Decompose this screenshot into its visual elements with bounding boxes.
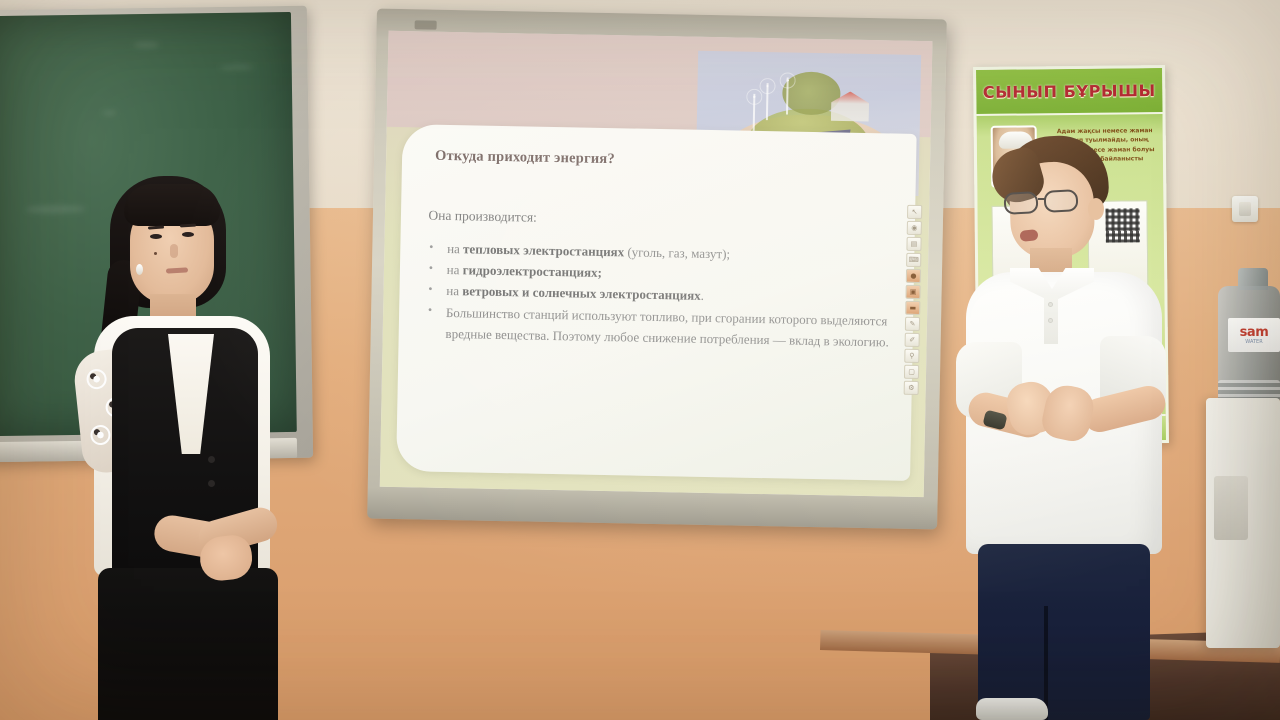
- student-presenter: [948, 136, 1188, 720]
- page-tool-icon[interactable]: ▤: [906, 237, 921, 251]
- bullet-bold: тепловых электростанциях: [463, 242, 624, 260]
- wind-turbine-icon: [786, 78, 789, 115]
- slide-title: Откуда приходит энергия?: [435, 148, 615, 168]
- keyboard-tool-icon[interactable]: ⌨: [906, 253, 921, 267]
- color-red-tool-icon[interactable]: ●: [906, 269, 921, 283]
- whiteboard-toolbar[interactable]: ↖ ◉ ▤ ⌨ ● ▣ ▬ ✎ ✐ ⚲ ▢ ⚙: [904, 205, 925, 395]
- pointer-tool-icon[interactable]: ↖: [907, 205, 922, 219]
- presentation-slide: Откуда приходит энергия? Она производитс…: [380, 31, 933, 497]
- teacher-earring: [136, 264, 143, 275]
- student-trousers: [978, 544, 1150, 720]
- cooler-tap-panel[interactable]: [1214, 476, 1248, 540]
- poster-header: СЫНЫП БҰРЫШЫ: [976, 68, 1162, 116]
- bullet-bold: гидроэлектростанциях;: [463, 262, 602, 280]
- shape-tool-icon[interactable]: ▬: [905, 301, 920, 315]
- water-bottle-label: sam WATER: [1228, 318, 1280, 352]
- link-tool-icon[interactable]: ⚲: [904, 349, 919, 363]
- pen-tool-icon[interactable]: ✎: [905, 317, 920, 331]
- classroom-scene: Откуда приходит энергия? Она производитс…: [0, 0, 1280, 720]
- bullet-bold: ветровых и солнечных электростанциях: [462, 283, 701, 303]
- whiteboard-logo-badge: [415, 20, 437, 29]
- slide-bullet-list: на тепловых электростанциях (уголь, газ,…: [423, 239, 904, 354]
- student-shoe: [976, 698, 1048, 720]
- interactive-whiteboard[interactable]: Откуда приходит энергия? Она производитс…: [367, 9, 947, 530]
- wind-turbine-icon: [766, 83, 769, 120]
- water-sub-text: WATER: [1245, 339, 1262, 345]
- bullet-lead: на: [447, 262, 463, 277]
- list-item: Большинство станций используют топливо, …: [423, 301, 902, 352]
- poster-title: СЫНЫП БҰРЫШЫ: [983, 81, 1156, 102]
- teacher: [58, 168, 308, 720]
- magnifier-tool-icon[interactable]: ◉: [907, 221, 922, 235]
- bullet-lead: на: [446, 283, 462, 298]
- projection-surface[interactable]: Откуда приходит энергия? Она производитс…: [380, 31, 933, 497]
- eraser-tool-icon[interactable]: ✐: [905, 333, 920, 347]
- water-brand-text: sam: [1240, 326, 1269, 339]
- light-switch[interactable]: [1232, 196, 1258, 222]
- water-cooler[interactable]: [1206, 398, 1280, 648]
- teacher-fringe: [124, 184, 220, 226]
- teacher-skirt: [98, 568, 278, 720]
- glasses-icon: [1002, 190, 1094, 212]
- save-tool-icon[interactable]: ▢: [904, 365, 919, 379]
- bullet-tail: (уголь, газ, мазут);: [624, 245, 730, 262]
- settings-tool-icon[interactable]: ⚙: [904, 381, 919, 395]
- bullet-lead: на: [447, 241, 463, 256]
- fill-tool-icon[interactable]: ▣: [905, 285, 920, 299]
- slide-intro-text: Она производится:: [428, 207, 537, 225]
- bullet-tail: .: [701, 288, 705, 303]
